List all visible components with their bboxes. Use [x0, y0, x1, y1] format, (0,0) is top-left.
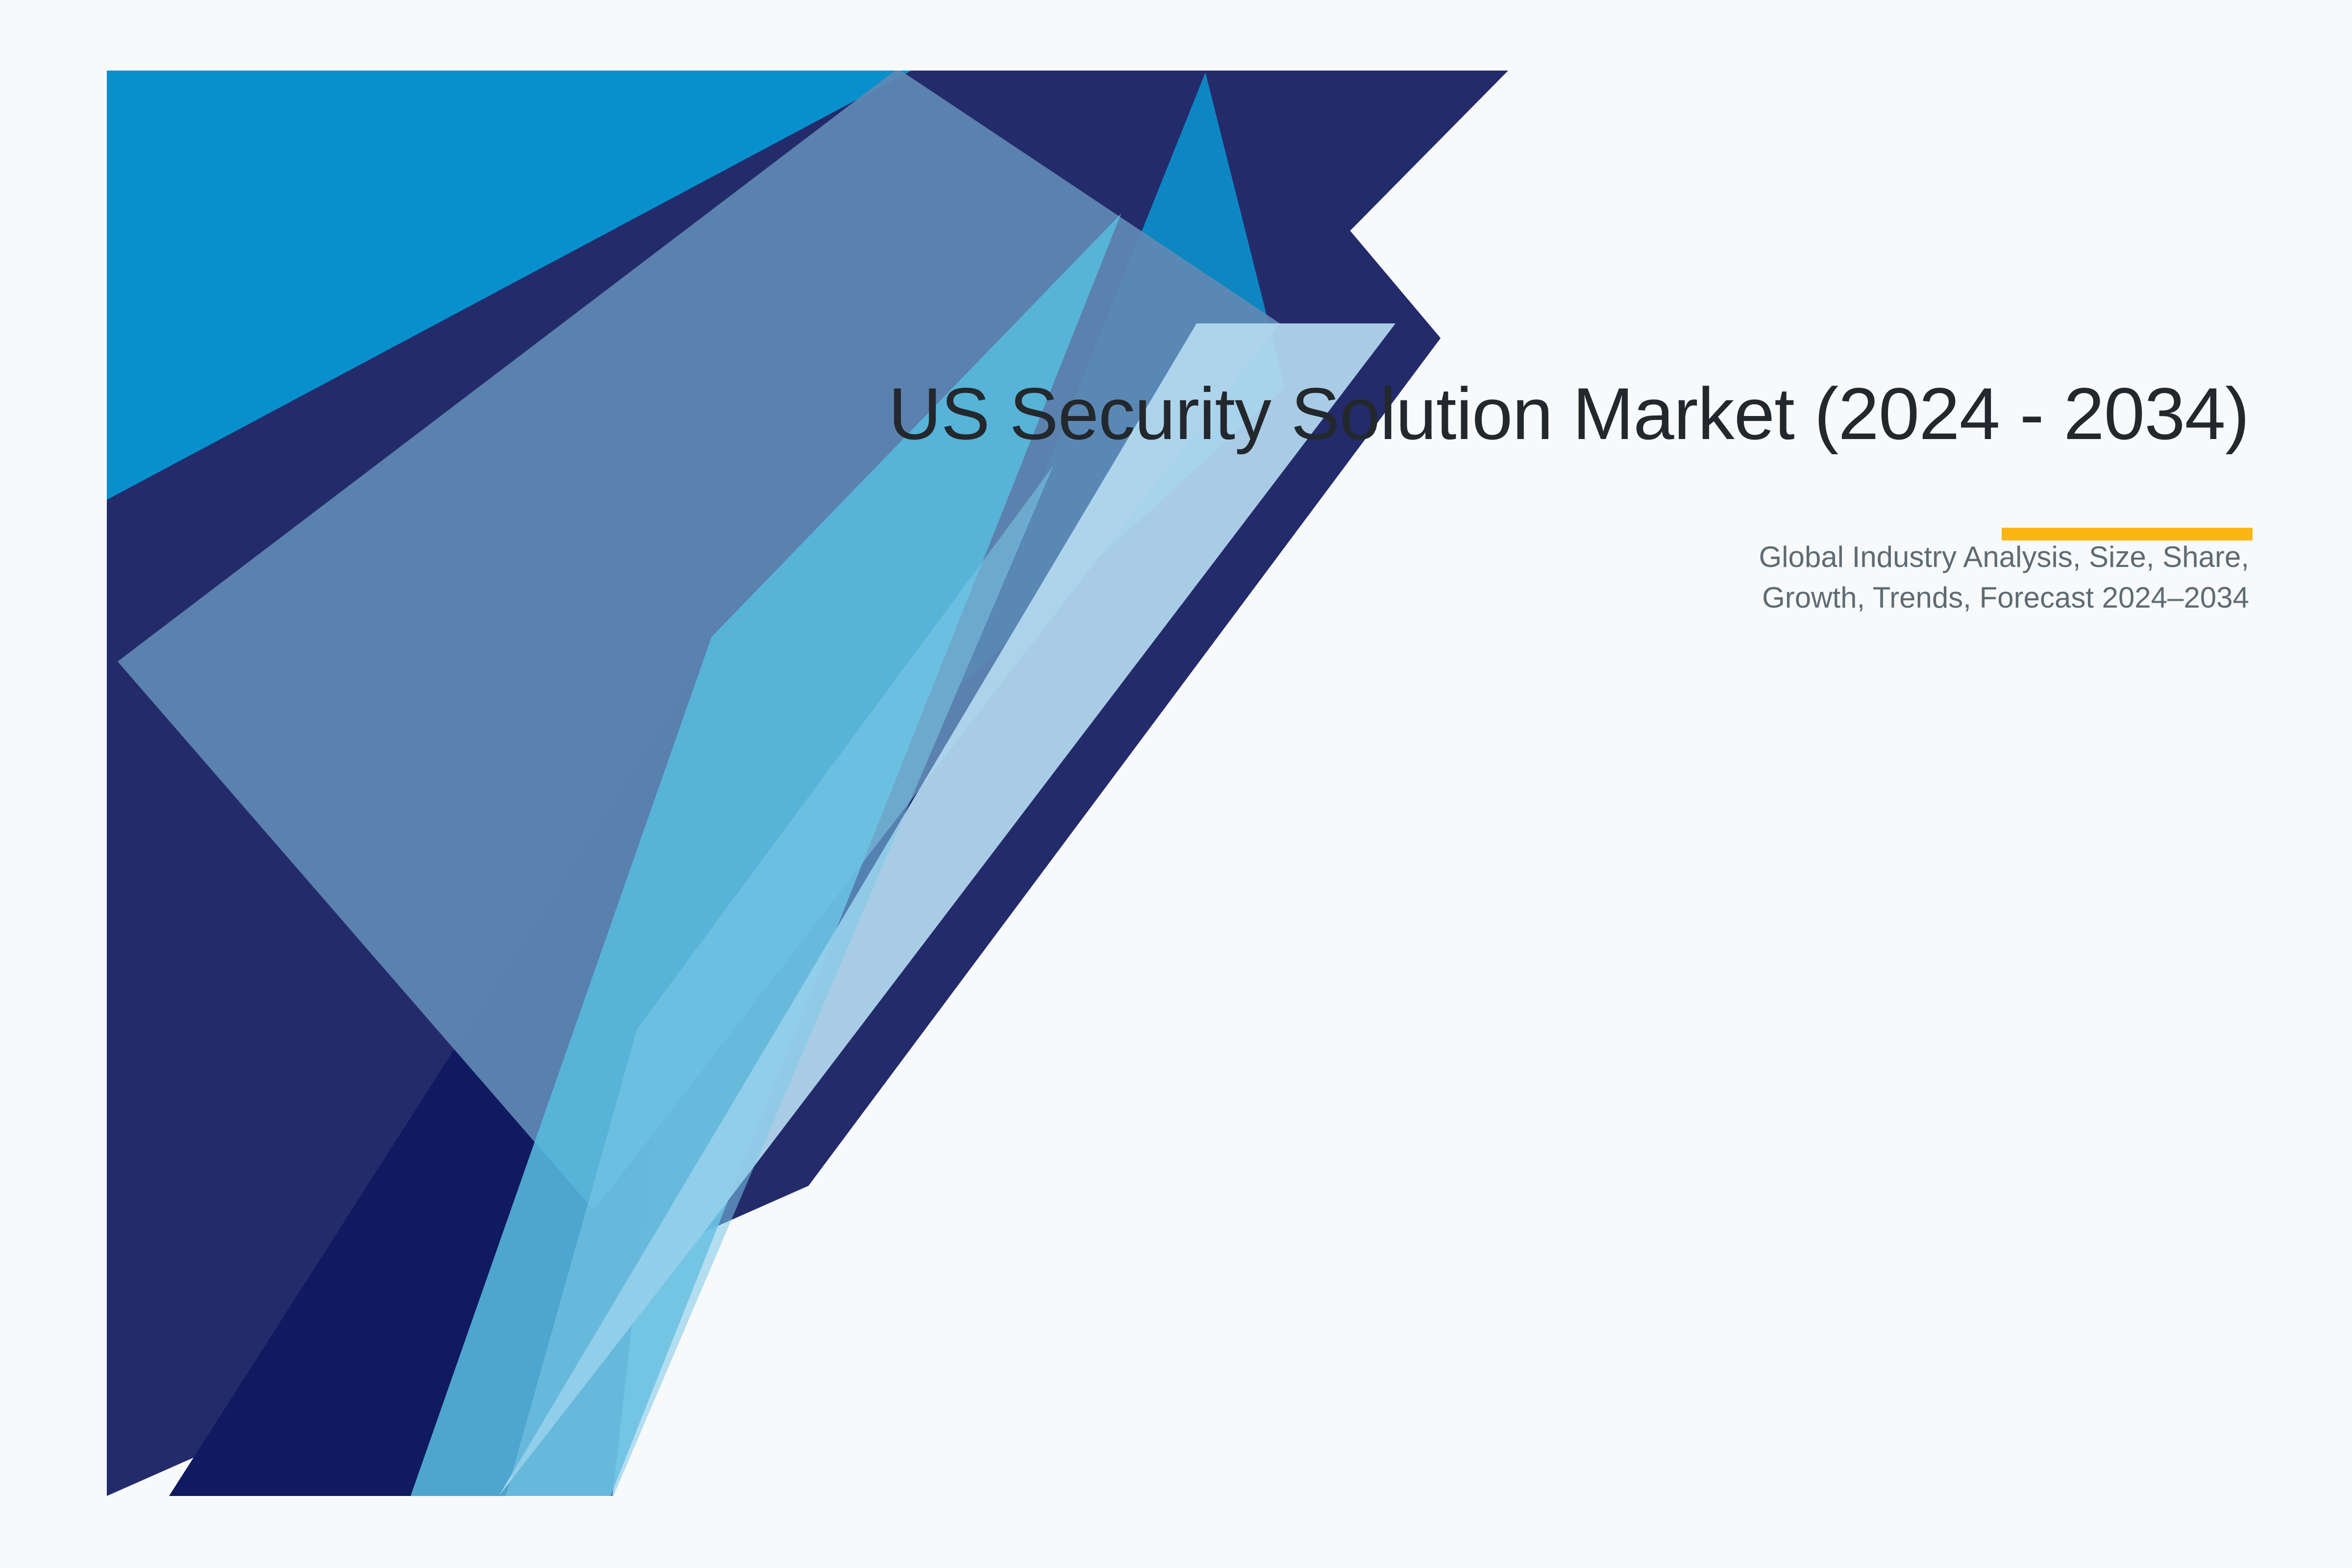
- slate-blue-quad-shape: [118, 69, 1280, 1210]
- cover-text-block: US Security Solution Market (2024 - 2034…: [833, 372, 2249, 618]
- report-cover-page: US Security Solution Market (2024 - 2034…: [0, 0, 2352, 1568]
- page-title: US Security Solution Market (2024 - 2034…: [833, 372, 2249, 455]
- navy-main-polygon-shape: [107, 71, 1441, 1496]
- deep-navy-wedge-shape: [169, 652, 708, 1496]
- page-subtitle: Global Industry Analysis, Size, Share, G…: [1730, 537, 2249, 618]
- navy-top-right-triangle-shape: [911, 71, 1508, 372]
- abstract-geometry-artwork: [0, 0, 2352, 1568]
- sky-blue-tail-shape: [506, 465, 1053, 1496]
